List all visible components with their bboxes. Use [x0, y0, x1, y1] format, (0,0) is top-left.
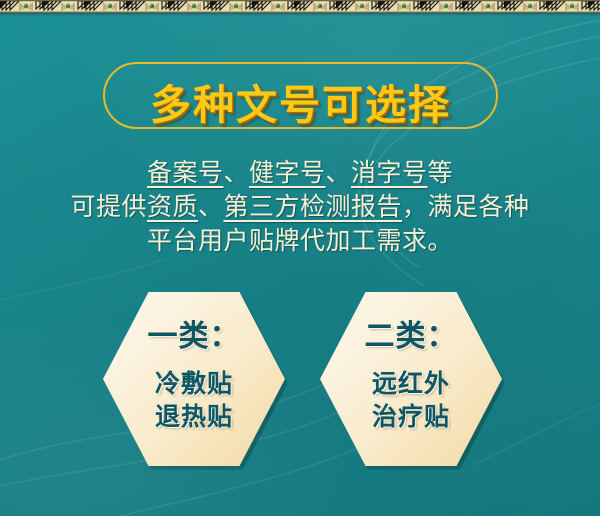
description-emphasis: 第三方检测报告 — [224, 194, 403, 221]
description-emphasis: 备案号 — [147, 160, 224, 187]
hexagon-item: 远红外 — [320, 368, 502, 401]
title-pill-outline: 多种文号可选择 — [103, 62, 498, 129]
hexagon-items-two: 远红外治疗贴 — [320, 368, 502, 434]
description-line: 可提供资质、第三方检测报告，满足各种 — [0, 191, 600, 225]
description-text: 、 — [326, 160, 352, 187]
decorative-top-border — [0, 0, 600, 13]
description-text: 、 — [198, 194, 224, 221]
description-text: 等 — [428, 160, 454, 187]
description-emphasis: 消字号 — [351, 160, 428, 187]
description-emphasis: 资质 — [147, 194, 198, 221]
promo-poster: 多种文号可选择 备案号、健字号、消字号等可提供资质、第三方检测报告，满足各种平台… — [0, 0, 600, 516]
description-emphasis: 健字号 — [249, 160, 326, 187]
description-line: 平台用户贴牌代加工需求。 — [0, 225, 600, 259]
page-title: 多种文号可选择 — [105, 71, 496, 131]
hexagon-item: 退热贴 — [103, 401, 285, 434]
hexagon-item: 治疗贴 — [320, 401, 502, 434]
description-text: 、 — [223, 160, 249, 187]
description-paragraph: 备案号、健字号、消字号等可提供资质、第三方检测报告，满足各种平台用户贴牌代加工需… — [0, 157, 600, 259]
hexagon-content-one: 一类： 冷敷贴退热贴 — [103, 318, 285, 434]
description-text: 可提供 — [70, 194, 147, 221]
top-border-shadow — [0, 13, 600, 16]
hexagon-item: 冷敷贴 — [103, 368, 285, 401]
description-text: ，满足各种 — [402, 194, 530, 221]
hexagon-content-two: 二类： 远红外治疗贴 — [320, 318, 502, 434]
hexagon-items-one: 冷敷贴退热贴 — [103, 368, 285, 434]
description-line: 备案号、健字号、消字号等 — [0, 157, 600, 191]
description-text: 平台用户贴牌代加工需求。 — [147, 228, 453, 255]
